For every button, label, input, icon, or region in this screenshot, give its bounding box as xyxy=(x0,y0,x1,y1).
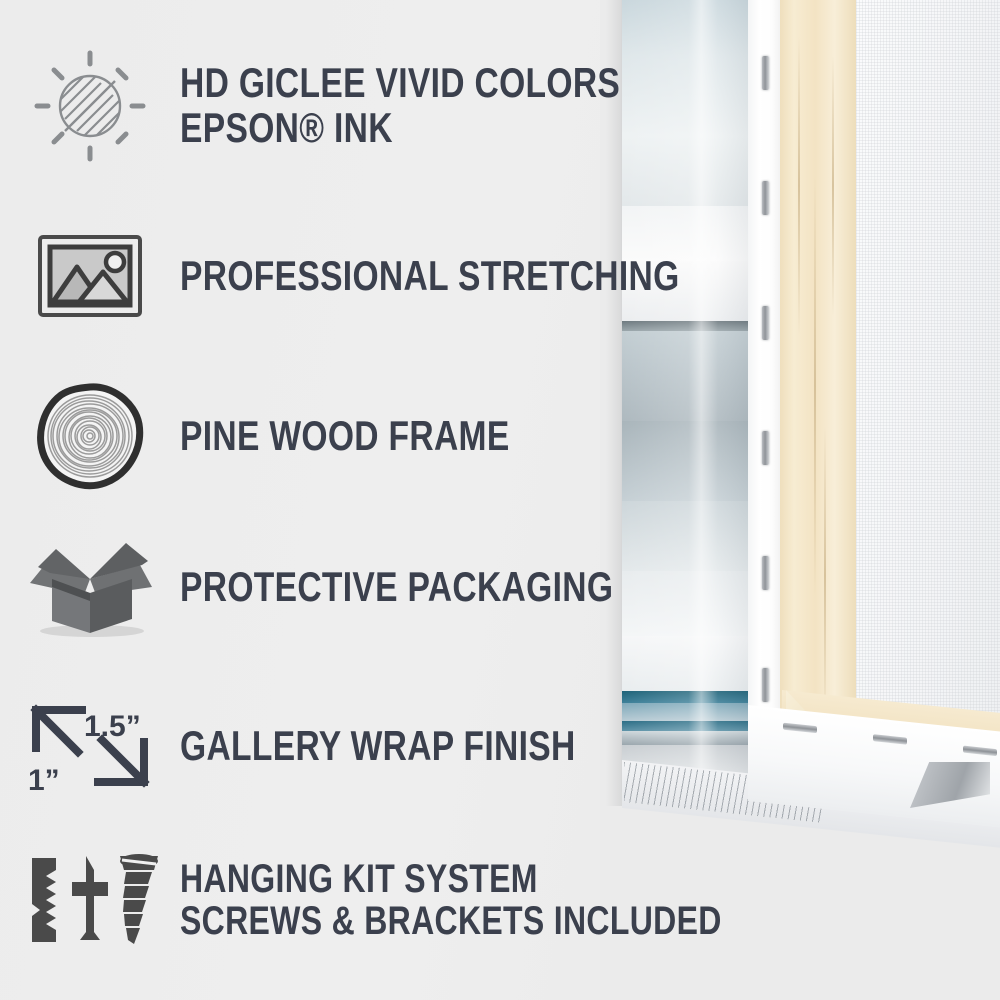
feature-label-pine-wood-frame: PINE WOOD FRAME xyxy=(180,414,510,459)
edge-fold-highlight xyxy=(622,0,750,791)
canvas-staple xyxy=(963,746,997,757)
open-box-icon xyxy=(0,535,180,639)
canvas-staple xyxy=(762,56,769,90)
feature-label-professional-stretching: PROFESSIONAL STRETCHING xyxy=(180,254,680,299)
canvas-staple xyxy=(762,431,769,465)
feature-row-hanging-kit: HANGING KIT SYSTEM SCREWS & BRACKETS INC… xyxy=(0,848,620,952)
infographic-canvas: HD GICLEE VIVID COLORS EPSON® INK PROFES… xyxy=(0,0,1000,1000)
feature-label-gallery-wrap-finish: GALLERY WRAP FINISH xyxy=(180,724,576,769)
feature-row-hd-giclee: HD GICLEE VIVID COLORS EPSON® INK xyxy=(0,52,620,160)
wrap-depth-arrows-icon: 1.5” 1” xyxy=(0,694,180,798)
feature-row-professional-stretching: PROFESSIONAL STRETCHING xyxy=(0,222,620,330)
canvas-edge-photo xyxy=(600,0,1000,1000)
sun-icon xyxy=(0,47,180,165)
tree-ring-icon xyxy=(0,382,180,490)
canvas-side-fold xyxy=(748,0,782,796)
feature-row-pine-wood-frame: PINE WOOD FRAME xyxy=(0,382,620,490)
feature-label-hd-giclee: HD GICLEE VIVID COLORS EPSON® INK xyxy=(180,61,620,150)
depth-bottom-label: 1” xyxy=(28,764,60,797)
canvas-staple xyxy=(762,306,769,340)
canvas-staple xyxy=(762,556,769,590)
gallery-wrapped-print-edge xyxy=(622,0,750,791)
canvas-staple xyxy=(783,723,817,734)
depth-top-label: 1.5” xyxy=(84,710,141,743)
feature-label-hanging-kit: HANGING KIT SYSTEM SCREWS & BRACKETS INC… xyxy=(180,858,722,943)
picture-frame-icon xyxy=(0,226,180,326)
canvas-staple xyxy=(762,181,769,215)
hanging-hardware-icon xyxy=(0,852,180,948)
pine-stretcher-bar xyxy=(780,0,858,771)
feature-label-protective-packaging: PROTECTIVE PACKAGING xyxy=(180,565,613,610)
feature-row-gallery-wrap-finish: 1.5” 1” GALLERY WRAP FINISH xyxy=(0,692,620,800)
canvas-back-weave xyxy=(856,0,1000,741)
canvas-staple xyxy=(762,668,769,702)
feature-row-protective-packaging: PROTECTIVE PACKAGING xyxy=(0,532,620,642)
canvas-staple xyxy=(873,734,907,745)
